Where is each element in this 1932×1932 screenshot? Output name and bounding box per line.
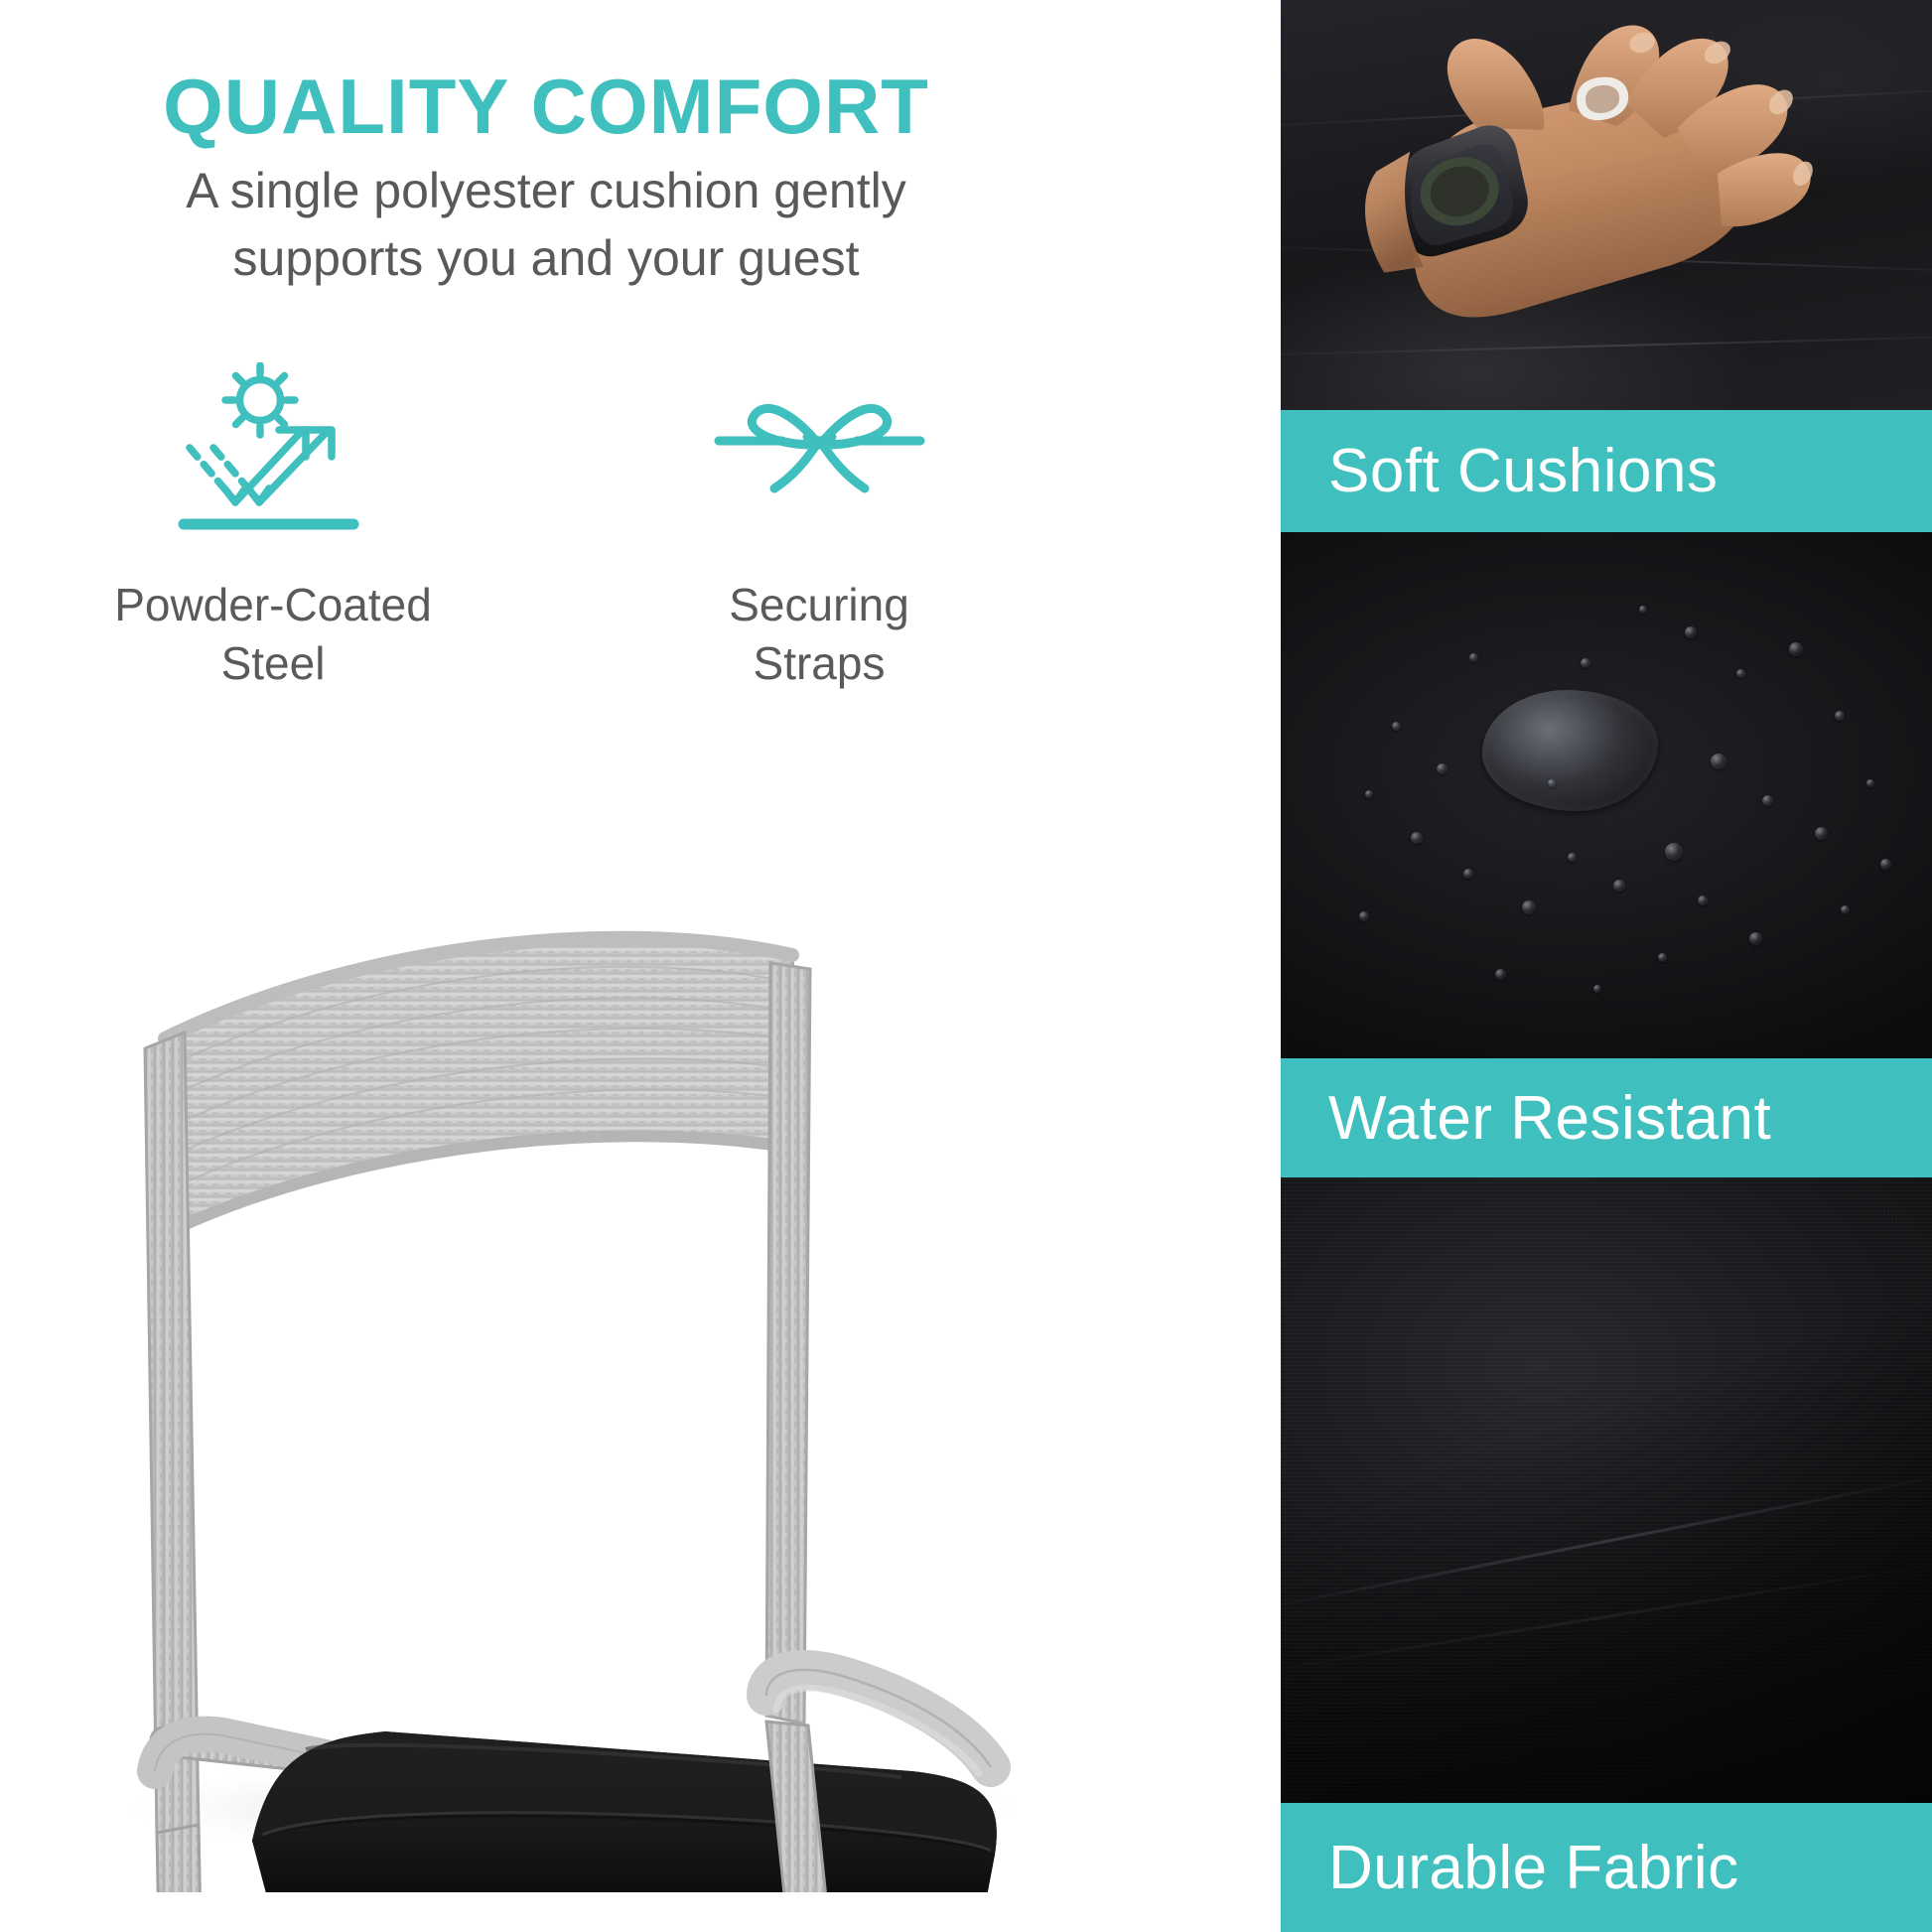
caption-band-soft-cushions: Soft Cushions [1281,410,1932,532]
page-subtitle: A single polyester cushion gently suppor… [0,157,1092,292]
feature-row: Powder-Coated Steel [0,349,1092,693]
feature-label-line-2: Steel [114,634,432,693]
right-panel: Soft Cushions [1281,0,1932,1932]
ribbon-bow-icon [713,349,926,548]
feature-cell-soft-cushions: Soft Cushions [1281,0,1932,532]
feature-label-securing-straps: Securing Straps [729,576,909,693]
left-panel: QUALITY COMFORT A single polyester cushi… [0,0,1281,1932]
page-title: QUALITY COMFORT [0,68,1092,145]
sun-reflect-icon [174,349,372,548]
feature-label-line-1: Securing [729,576,909,634]
feature-label-powder-coated-steel: Powder-Coated Steel [114,576,432,693]
subtitle-line-2: supports you and your guest [0,224,1092,292]
product-photo-stage [0,735,1281,1932]
caption-text: Soft Cushions [1328,436,1719,506]
hand-pressing-cushion-photo [1281,0,1932,410]
hand-illustration [1307,0,1866,410]
feature-label-line-1: Powder-Coated [114,576,432,634]
subtitle-line-1: A single polyester cushion gently [0,157,1092,224]
feature-label-line-2: Straps [729,634,909,693]
feature-powder-coated-steel: Powder-Coated Steel [60,349,486,693]
caption-band-durable-fabric: Durable Fabric [1281,1803,1932,1932]
feature-securing-straps: Securing Straps [606,349,1033,693]
water-beading-on-fabric-photo [1281,532,1932,1058]
caption-text: Durable Fabric [1328,1833,1739,1903]
caption-band-water-resistant: Water Resistant [1281,1058,1932,1177]
caption-text: Water Resistant [1328,1083,1771,1154]
feature-cell-durable-fabric: Durable Fabric [1281,1177,1932,1932]
patio-bench-photo [58,751,1229,1892]
infographic-root: QUALITY COMFORT A single polyester cushi… [0,0,1932,1932]
black-fabric-closeup-photo [1281,1177,1932,1803]
feature-cell-water-resistant: Water Resistant [1281,532,1932,1177]
